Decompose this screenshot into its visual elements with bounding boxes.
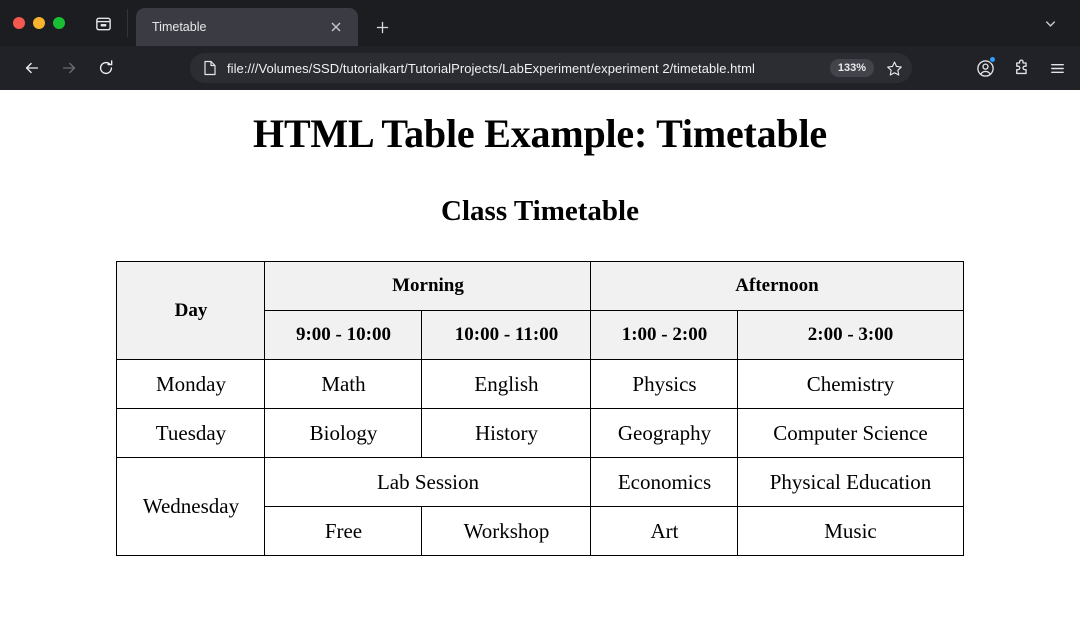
extensions-puzzle-icon[interactable] <box>1006 53 1036 83</box>
table-row: Wednesday Lab Session Economics Physical… <box>117 458 963 507</box>
cell-subject: Workshop <box>422 507 591 556</box>
cell-day: Tuesday <box>117 409 265 458</box>
cell-subject: Art <box>591 507 738 556</box>
cell-subject: Geography <box>591 409 738 458</box>
timetable-head: Day Morning Afternoon 9:00 - 10:00 10:00… <box>117 262 963 360</box>
url-text: file:///Volumes/SSD/tutorialkart/Tutoria… <box>227 61 824 76</box>
window-controls <box>0 0 65 46</box>
profile-notification-badge <box>989 56 996 63</box>
back-arrow-icon[interactable] <box>16 52 48 84</box>
cell-day: Wednesday <box>117 458 265 556</box>
header-time-slot: 2:00 - 3:00 <box>738 311 963 360</box>
zoom-level-badge[interactable]: 133% <box>830 59 874 77</box>
table-row: Tuesday Biology History Geography Comput… <box>117 409 963 458</box>
page-document-icon <box>201 59 219 77</box>
cell-subject: Math <box>265 360 422 409</box>
cell-subject: Physics <box>591 360 738 409</box>
browser-chrome: Timetable <box>0 0 1080 90</box>
header-morning: Morning <box>265 262 591 311</box>
url-bar[interactable]: file:///Volumes/SSD/tutorialkart/Tutoria… <box>190 53 912 83</box>
cell-subject: Biology <box>265 409 422 458</box>
header-afternoon: Afternoon <box>591 262 963 311</box>
header-time-slot: 9:00 - 10:00 <box>265 311 422 360</box>
tab-strip: Timetable <box>0 0 1080 46</box>
browser-toolbar-right <box>970 53 1072 83</box>
chevron-down-icon[interactable] <box>1034 8 1066 38</box>
table-row: Monday Math English Physics Chemistry <box>117 360 963 409</box>
cell-subject: History <box>422 409 591 458</box>
close-tab-icon[interactable] <box>326 17 346 37</box>
header-row-periods: Day Morning Afternoon <box>117 262 963 311</box>
page-subtitle: Class Timetable <box>0 195 1080 228</box>
header-time-slot: 10:00 - 11:00 <box>422 311 591 360</box>
hamburger-menu-icon[interactable] <box>1042 53 1072 83</box>
forward-arrow-icon[interactable] <box>53 52 85 84</box>
tabs-container: Timetable <box>128 0 398 46</box>
cell-subject: English <box>422 360 591 409</box>
close-window-button[interactable] <box>13 17 25 29</box>
timetable-container: Day Morning Afternoon 9:00 - 10:00 10:00… <box>0 261 1080 556</box>
header-time-slot: 1:00 - 2:00 <box>591 311 738 360</box>
timetable: Day Morning Afternoon 9:00 - 10:00 10:00… <box>116 261 963 556</box>
cell-subject: Economics <box>591 458 738 507</box>
page-title: HTML Table Example: Timetable <box>0 110 1080 157</box>
cell-day: Monday <box>117 360 265 409</box>
cell-subject: Free <box>265 507 422 556</box>
tab-timetable[interactable]: Timetable <box>136 8 358 46</box>
timetable-body: Monday Math English Physics Chemistry Tu… <box>117 360 963 556</box>
new-tab-button[interactable] <box>366 11 398 43</box>
maximize-window-button[interactable] <box>53 17 65 29</box>
tab-title: Timetable <box>152 20 326 34</box>
tab-list-icon[interactable] <box>83 0 123 46</box>
reload-icon[interactable] <box>90 52 122 84</box>
star-icon[interactable] <box>882 56 906 80</box>
profile-avatar-icon[interactable] <box>970 53 1000 83</box>
page-content: HTML Table Example: Timetable Class Time… <box>0 90 1080 620</box>
cell-subject-merged: Lab Session <box>265 458 591 507</box>
cell-subject: Computer Science <box>738 409 963 458</box>
minimize-window-button[interactable] <box>33 17 45 29</box>
cell-subject: Music <box>738 507 963 556</box>
cell-subject: Chemistry <box>738 360 963 409</box>
cell-subject: Physical Education <box>738 458 963 507</box>
navigation-bar: file:///Volumes/SSD/tutorialkart/Tutoria… <box>0 46 1080 90</box>
header-day: Day <box>117 262 265 360</box>
